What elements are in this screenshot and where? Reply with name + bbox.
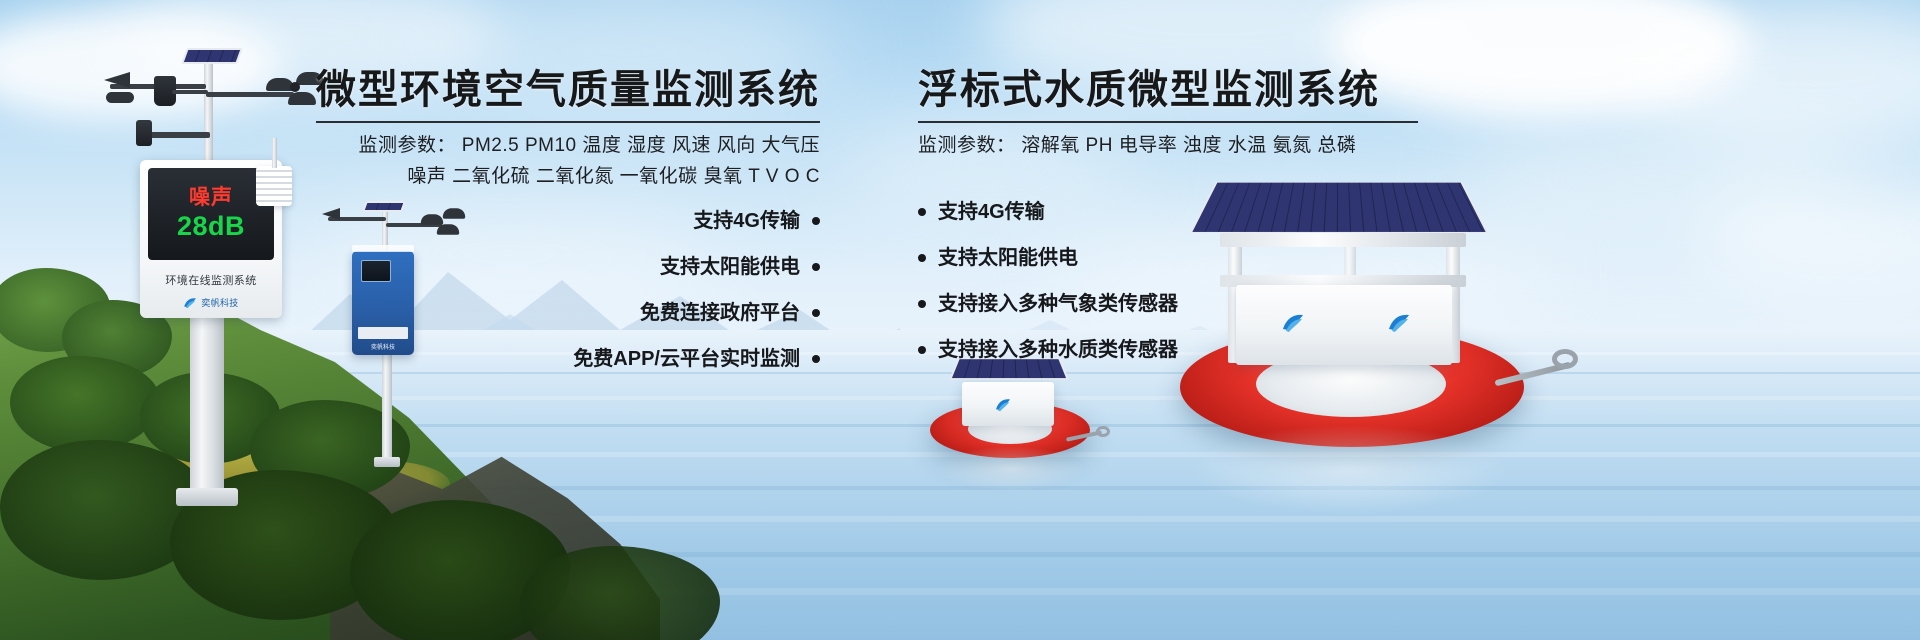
station-solar-panel [181,48,243,64]
station-brand-row: 奕帆科技 [140,296,282,309]
right-feature-item-2: 支持太阳能供电 [918,248,1418,268]
noise-metric-value: 28dB [177,211,245,242]
bullet-dot-icon [918,254,926,262]
bullet-dot-icon [918,346,926,354]
right-feature-label-1: 支持4G传输 [938,202,1045,222]
bullet-dot-icon [918,208,926,216]
left-feature-label-2: 支持太阳能供电 [660,257,800,277]
shield-stem [272,138,277,168]
right-text-panel: 浮标式水质微型监测系统 监测参数： 溶解氧 PH 电导率 浊度 水温 氨氮 总磷… [918,68,1418,386]
buoy-mooring-ring [1552,349,1578,369]
left-panel-params-line-1: 监测参数： PM2.5 PM10 温度 湿度 风速 风向 大气压 [316,131,820,162]
bullet-dot-icon [812,355,820,363]
left-text-panel: 微型环境空气质量监测系统 监测参数： PM2.5 PM10 温度 湿度 风速 风… [316,68,820,395]
left-panel-params-line-2: 噪声 二氧化硫 二氧化氮 一氧化碳 臭氧 T V O C [316,162,820,193]
right-feature-item-1: 支持4G传输 [918,202,1418,222]
right-feature-label-4: 支持接入多种水质类传感器 [938,340,1178,360]
station-display-caption: 环境在线监测系统 [140,272,282,288]
buoy-small-brand-icon [994,398,1012,412]
anemometer-hub [290,82,300,92]
left-feature-item-2: 支持太阳能供电 [316,257,820,277]
left-feature-label-3: 免费连接政府平台 [640,303,800,323]
sensor-crossarm [142,132,210,138]
sensor-pod [136,120,152,146]
noise-metric-label: 噪声 [189,186,233,210]
left-panel-title: 微型环境空气质量监测系统 [316,68,820,112]
right-panel-divider [918,121,1418,123]
bullet-dot-icon [812,309,820,317]
left-feature-item-1: 支持4G传输 [316,211,820,231]
right-panel-feature-list: 支持4G传输 支持太阳能供电 支持接入多种气象类传感器 支持接入多种水质类传感器 [918,202,1418,360]
wind-vane-nose [106,92,134,103]
banner-canvas: 噪声 28dB 环境在线监测系统 奕帆科技 [0,0,1920,640]
bullet-dot-icon [812,263,820,271]
right-panel-title: 浮标式水质微型监测系统 [918,68,1418,112]
station-footing [176,488,238,506]
buoy-small-antenna-tip [1096,426,1110,437]
anemometer-cup-3 [288,92,316,105]
left-feature-item-3: 免费连接政府平台 [316,303,820,323]
right-feature-item-4: 支持接入多种水质类传感器 [918,340,1418,360]
left-feature-item-4: 免费APP/云平台实时监测 [316,349,820,369]
left-panel-divider [316,121,820,123]
right-feature-item-3: 支持接入多种气象类传感器 [918,294,1418,314]
bullet-dot-icon [918,300,926,308]
right-feature-label-3: 支持接入多种气象类传感器 [938,294,1178,314]
blue-station-footing [374,457,400,467]
station-brand-text: 奕帆科技 [201,296,238,309]
left-panel-feature-list: 支持4G传输 支持太阳能供电 免费连接政府平台 免费APP/云平台实时监测 [316,211,820,369]
right-feature-label-2: 支持太阳能供电 [938,248,1078,268]
anemometer-head [280,72,314,106]
brand-logo-icon [183,297,197,309]
right-panel-params-line-1: 监测参数： 溶解氧 PH 电导率 浊度 水温 氨氮 总磷 [918,131,1418,162]
buoy-small-reflection [936,446,1086,492]
bullet-dot-icon [812,217,820,225]
rain-gauge-arm [172,90,208,94]
buoy-large-reflection [1190,425,1510,515]
left-feature-label-1: 支持4G传输 [693,211,800,231]
radiation-shield [256,166,292,206]
left-feature-label-4: 免费APP/云平台实时监测 [573,349,800,369]
